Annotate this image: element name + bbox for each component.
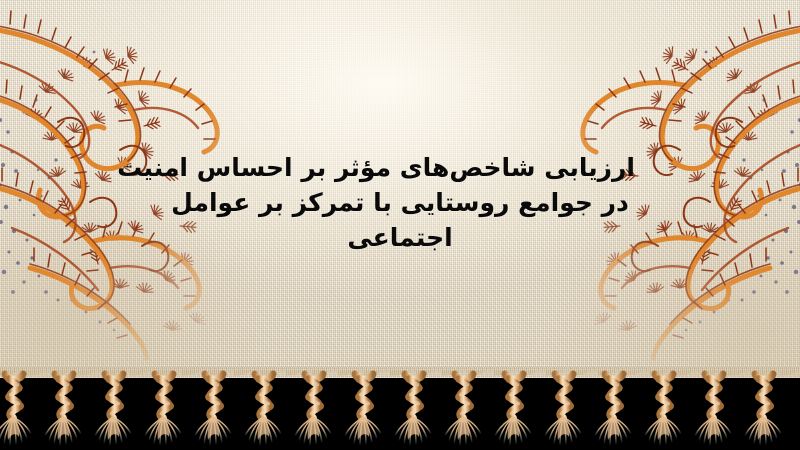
dark-ground — [0, 372, 800, 450]
title-line-1: ارزیابی شاخص‌های مؤثر بر احساس امنیت — [165, 150, 635, 185]
fabric-selvedge-fuzz — [0, 367, 800, 378]
slide-canvas: ارزیابی شاخص‌های مؤثر بر احساس امنیت در … — [0, 0, 800, 450]
title-line-2: در جوامع روستایی با تمرکز بر عوامل — [165, 185, 635, 220]
title-line-3: اجتماعی — [165, 220, 635, 255]
slide-title: ارزیابی شاخص‌های مؤثر بر احساس امنیت در … — [165, 150, 635, 255]
